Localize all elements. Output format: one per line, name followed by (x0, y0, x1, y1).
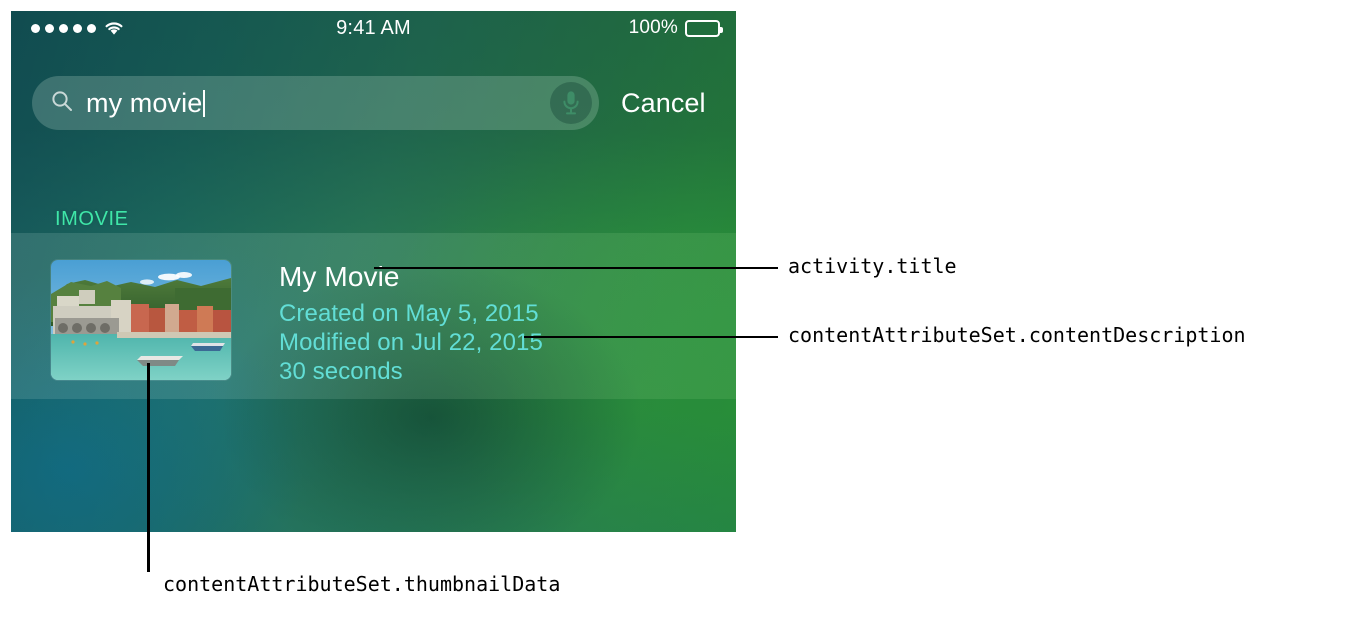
result-description-line-2: Modified on Jul 22, 2015 (279, 328, 543, 357)
microphone-icon (562, 90, 580, 116)
battery-full-icon (685, 20, 720, 37)
result-description-line-3: 30 seconds (279, 357, 543, 386)
status-bar: 9:41 AM 100% (11, 11, 736, 45)
search-result-text: My Movie Created on May 5, 2015 Modified… (279, 260, 543, 386)
phone-screenshot: 9:41 AM 100% my movie (11, 11, 736, 532)
search-icon (50, 89, 74, 118)
battery-percent-label: 100% (629, 17, 678, 39)
cancel-button[interactable]: Cancel (621, 88, 706, 119)
status-bar-right: 100% (629, 17, 720, 39)
microphone-button[interactable] (550, 82, 592, 124)
video-thumbnail[interactable] (51, 260, 231, 380)
annotation-label-description: contentAttributeSet.contentDescription (788, 323, 1246, 347)
search-bar-row: my movie Cancel (11, 73, 736, 133)
search-input[interactable]: my movie (32, 76, 599, 130)
status-bar-time: 9:41 AM (11, 17, 736, 40)
result-description-line-1: Created on May 5, 2015 (279, 299, 543, 328)
results-section-header: IMOVIE (55, 208, 129, 231)
annotation-label-thumbnail: contentAttributeSet.thumbnailData (163, 572, 560, 596)
text-cursor (203, 90, 205, 117)
result-title: My Movie (279, 260, 543, 294)
search-input-value: my movie (86, 88, 202, 118)
annotation-label-title: activity.title (788, 254, 957, 278)
search-input-value-wrap: my movie (86, 88, 591, 119)
search-result-row[interactable]: My Movie Created on May 5, 2015 Modified… (51, 260, 543, 386)
